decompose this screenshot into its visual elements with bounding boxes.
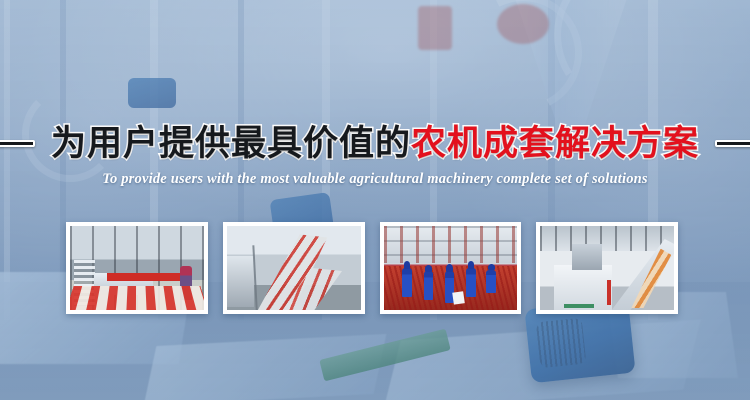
thumb1-red-product (70, 286, 204, 310)
thumbnail-item[interactable] (66, 222, 208, 314)
headline-prefix-text: 为用户提供最具价值的 (51, 124, 411, 163)
page-title: 为用户提供最具价值的农机成套解决方案 (51, 126, 699, 161)
thumb3-bag (452, 291, 464, 304)
thumb3-worker-5 (486, 270, 495, 294)
promo-banner: 为用户提供最具价值的农机成套解决方案 To provide users with… (0, 0, 750, 400)
thumb1-red-band (107, 273, 190, 281)
thumb4-red-post (607, 280, 611, 305)
thumb2-left-machine (227, 256, 254, 306)
headline-highlight-text: 农机成套解决方案 (411, 124, 699, 163)
thumb4-roof (540, 226, 674, 251)
background-light-wash (0, 0, 750, 400)
right-dash-icon (715, 140, 750, 147)
thumb4-hopper (572, 244, 601, 269)
thumb3-roof (384, 226, 518, 263)
thumb3-worker-4 (466, 268, 475, 297)
thumbnail-strip (66, 222, 678, 314)
thumbnail-item[interactable] (380, 222, 522, 314)
subtitle: To provide users with the most valuable … (0, 171, 750, 188)
background-factory-photo (0, 0, 750, 400)
left-dash-icon (0, 140, 35, 147)
thumbnail-image-packaging-line (70, 226, 204, 310)
thumbnail-item[interactable] (223, 222, 365, 314)
thumbnail-image-elevating-conveyor (540, 226, 674, 310)
thumbnail-item[interactable] (536, 222, 678, 314)
thumb2-rail (252, 241, 344, 310)
thumbnail-image-conveyor (227, 226, 361, 310)
thumb4-green-base (564, 304, 593, 308)
thumb3-worker-1 (402, 268, 411, 297)
thumbnail-image-chilli-workshop (384, 226, 518, 310)
headline-row: 为用户提供最具价值的农机成套解决方案 (0, 126, 750, 161)
thumb3-worker-2 (424, 271, 433, 300)
